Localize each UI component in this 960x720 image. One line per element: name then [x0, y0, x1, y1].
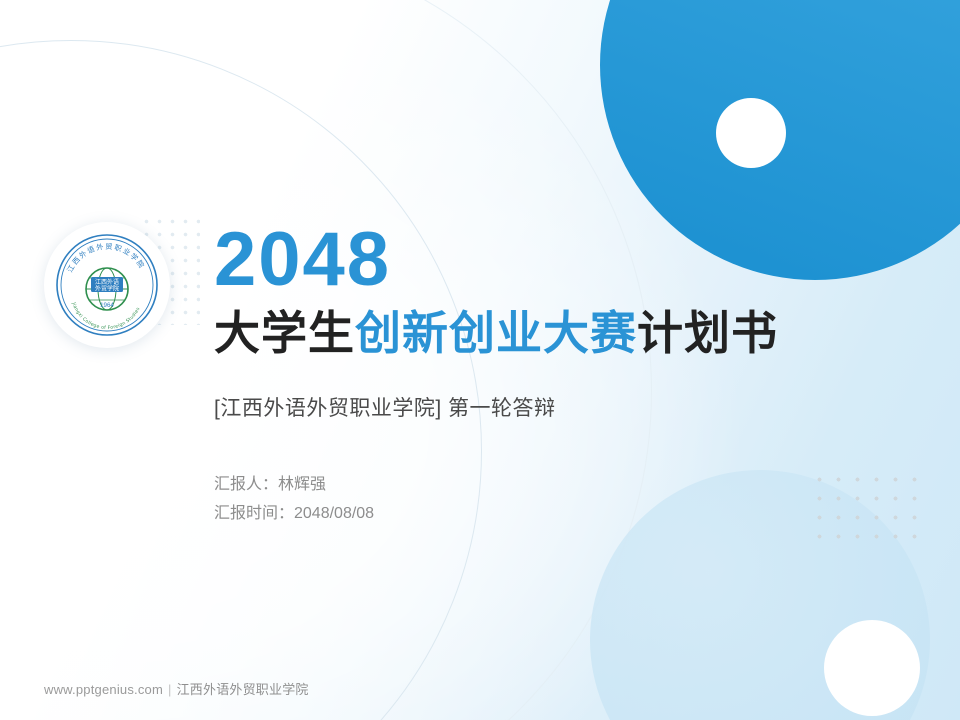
slide-meta: 汇报人：林辉强 汇报时间：2048/08/08 [214, 470, 914, 529]
svg-text:外贸学院: 外贸学院 [95, 285, 119, 293]
slide-subtitle: [江西外语外贸职业学院] 第一轮答辩 [214, 392, 914, 422]
slide-year: 2048 [214, 222, 914, 298]
title-block: 2048 大学生创新创业大赛计划书 [江西外语外贸职业学院] 第一轮答辩 汇报人… [214, 222, 914, 529]
footer: www.pptgenius.com|江西外语外贸职业学院 [44, 679, 309, 698]
presenter-line: 汇报人：林辉强 [214, 470, 914, 500]
title-part-2-accent: 创新创业大赛 [355, 307, 637, 359]
decorative-circle-white-small [716, 98, 786, 168]
decorative-circle-white-bottom [824, 620, 920, 716]
page-title: 大学生创新创业大赛计划书 [214, 308, 914, 360]
presentation-slide: 江西外语 外贸学院 1964 江西外语外贸职业学院 Jiangxi Colleg… [0, 0, 960, 720]
school-logo: 江西外语 外贸学院 1964 江西外语外贸职业学院 Jiangxi Colleg… [44, 222, 170, 348]
footer-organization: 江西外语外贸职业学院 [177, 682, 309, 697]
footer-website: www.pptgenius.com [44, 682, 163, 697]
title-part-1: 大学生 [214, 307, 355, 359]
school-emblem-icon: 江西外语 外贸学院 1964 江西外语外贸职业学院 Jiangxi Colleg… [55, 233, 159, 337]
svg-text:1964: 1964 [100, 302, 114, 309]
date-line: 汇报时间：2048/08/08 [214, 499, 914, 529]
footer-separator: | [168, 682, 172, 697]
title-part-3: 计划书 [637, 307, 778, 359]
